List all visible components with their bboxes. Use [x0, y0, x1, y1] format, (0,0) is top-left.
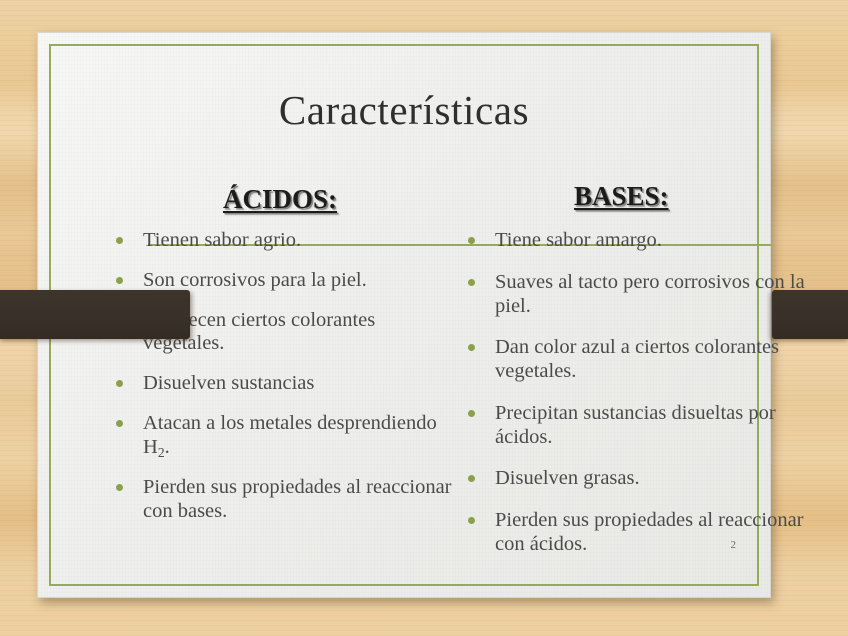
bullet-dot-icon: [468, 344, 475, 351]
list-item-label: Disuelven grasas.: [495, 467, 806, 491]
list-item-label: Precipitan sustancias disueltas por ácid…: [495, 402, 806, 450]
list-item: Disuelven sustancias: [108, 372, 453, 396]
ribbon-bar-right: [772, 290, 848, 339]
list-item: Suaves al tacto pero corrosivos con la p…: [461, 271, 806, 319]
list-item-label: Tiene sabor amargo.: [495, 229, 806, 253]
list-item-label: Suaves al tacto pero corrosivos con la p…: [495, 271, 806, 319]
column-acidos: Tienen sabor agrio. Son corrosivos para …: [108, 229, 453, 540]
bullet-dot-icon: [468, 237, 475, 244]
bullet-dot-icon: [116, 420, 123, 427]
bullet-dot-icon: [116, 380, 123, 387]
page-title: Características: [38, 89, 770, 132]
list-item: Atacan a los metales desprendiendo H2.: [108, 412, 453, 460]
list-item-label: Son corrosivos para la piel.: [143, 269, 453, 293]
list-item: Pierden sus propiedades al reaccionar co…: [461, 509, 806, 557]
bullet-dot-icon: [468, 279, 475, 286]
list-item: Son corrosivos para la piel.: [108, 269, 453, 293]
list-item-label: Tienen sabor agrio.: [143, 229, 453, 253]
bullet-dot-icon: [116, 277, 123, 284]
bullet-dot-icon: [468, 410, 475, 417]
column-heading-acidos: ÁCIDOS:: [223, 184, 337, 215]
bullet-dot-icon: [116, 484, 123, 491]
list-item-label: Pierden sus propiedades al reaccionar co…: [143, 476, 453, 524]
column-heading-bases: BASES:: [574, 181, 669, 212]
column-bases: Tiene sabor amargo. Suaves al tacto pero…: [461, 229, 806, 575]
list-item-label: Disuelven sustancias: [143, 372, 453, 396]
list-item-label: Dan color azul a ciertos colorantes vege…: [495, 336, 806, 384]
bullet-dot-icon: [116, 237, 123, 244]
list-item-label: Pierden sus propiedades al reaccionar co…: [495, 509, 806, 557]
page-number: 2: [731, 539, 737, 551]
bullet-dot-icon: [468, 517, 475, 524]
list-item-tail: .: [165, 436, 170, 458]
bullet-dot-icon: [468, 475, 475, 482]
list-item: Precipitan sustancias disueltas por ácid…: [461, 402, 806, 450]
list-item: Tienen sabor agrio.: [108, 229, 453, 253]
list-item: Pierden sus propiedades al reaccionar co…: [108, 476, 453, 524]
list-item-label: Atacan a los metales desprendiendo H2.: [143, 412, 453, 460]
desk-background: Características ÁCIDOS: BASES: Tienen sa…: [0, 0, 848, 636]
subscript: 2: [158, 444, 165, 459]
list-item-text: Atacan a los metales desprendiendo H: [143, 412, 437, 458]
list-item: Dan color azul a ciertos colorantes vege…: [461, 336, 806, 384]
list-item: Disuelven grasas.: [461, 467, 806, 491]
list-item: Tiene sabor amargo.: [461, 229, 806, 253]
ribbon-bar-left: [0, 290, 190, 339]
